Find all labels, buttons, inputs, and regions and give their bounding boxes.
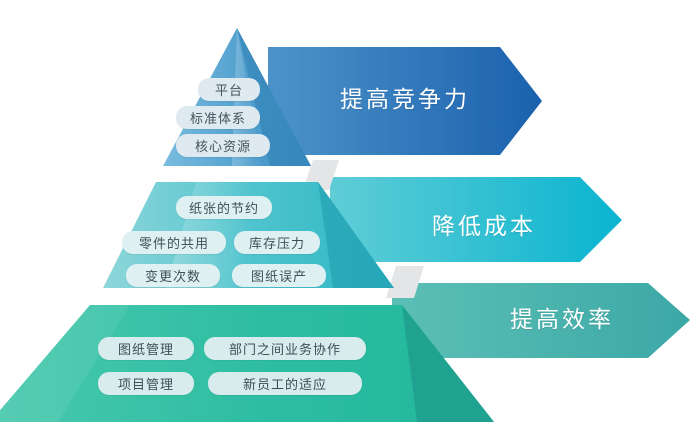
chip-core-resources[interactable]: 核心资源 [176, 134, 270, 157]
banner-label-competitiveness: 提高竞争力 [340, 80, 470, 114]
chip-platform[interactable]: 平台 [198, 78, 260, 101]
chip-inventory-pressure[interactable]: 库存压力 [234, 231, 320, 254]
chip-paper-saving[interactable]: 纸张的节约 [176, 196, 272, 219]
banner-label-cost: 降低成本 [432, 207, 536, 241]
chip-drawing-management[interactable]: 图纸管理 [98, 337, 194, 360]
chip-change-count[interactable]: 变更次数 [126, 264, 220, 287]
banner-label-efficiency: 提高效率 [510, 300, 614, 334]
chip-parts-sharing[interactable]: 零件的共用 [122, 231, 226, 254]
diagram-canvas: 提高竞争力 降低成本 提高效率 平台 标准体系 核心资源 纸张的节约 零件的共用… [0, 0, 700, 422]
chip-cross-department-collaboration[interactable]: 部门之间业务协作 [204, 337, 366, 360]
chip-new-employee-adaptation[interactable]: 新员工的适应 [208, 372, 362, 395]
chip-standard-system[interactable]: 标准体系 [176, 106, 260, 129]
chip-project-management[interactable]: 项目管理 [98, 372, 194, 395]
chip-drawing-error-production[interactable]: 图纸误产 [232, 264, 326, 287]
